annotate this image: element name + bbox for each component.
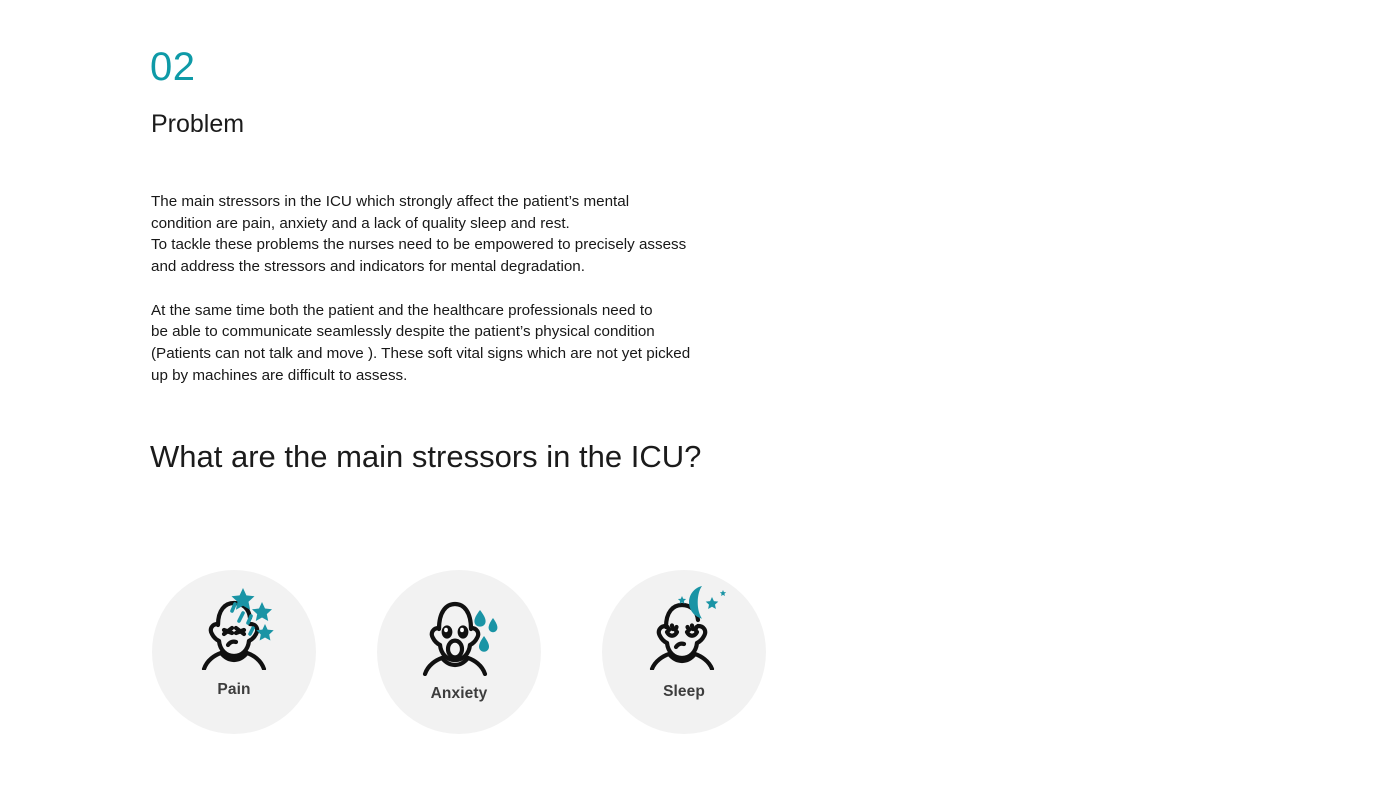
question-headline: What are the main stressors in the ICU? — [150, 438, 701, 475]
stressor-label-sleep: Sleep — [663, 684, 705, 700]
stressor-label-anxiety: Anxiety — [431, 686, 488, 702]
slide-root: 02 Problem The main stressors in the ICU… — [0, 0, 1400, 798]
anxiety-face-sweat-icon — [413, 590, 505, 676]
sleep-face-moon-icon — [638, 584, 730, 670]
stressor-card-group: Pain — [152, 570, 792, 736]
headline-highlight: main stressors — [336, 438, 538, 475]
headline-prefix: What are the — [150, 439, 336, 474]
stressor-card-pain[interactable]: Pain — [152, 570, 316, 734]
paragraph-2: At the same time both the patient and th… — [151, 300, 851, 387]
headline-highlight-text: main stressors — [336, 439, 538, 474]
stressor-label-pain: Pain — [217, 682, 250, 698]
headline-suffix: in the ICU? — [538, 439, 702, 474]
stressor-card-sleep[interactable]: Sleep — [602, 570, 766, 734]
body-text-block: The main stressors in the ICU which stro… — [151, 191, 851, 386]
section-number: 02 — [150, 47, 196, 87]
pain-face-stars-icon — [188, 584, 280, 670]
stressor-card-anxiety[interactable]: Anxiety — [377, 570, 541, 734]
section-title: Problem — [151, 111, 244, 139]
paragraph-1: The main stressors in the ICU which stro… — [151, 191, 851, 278]
